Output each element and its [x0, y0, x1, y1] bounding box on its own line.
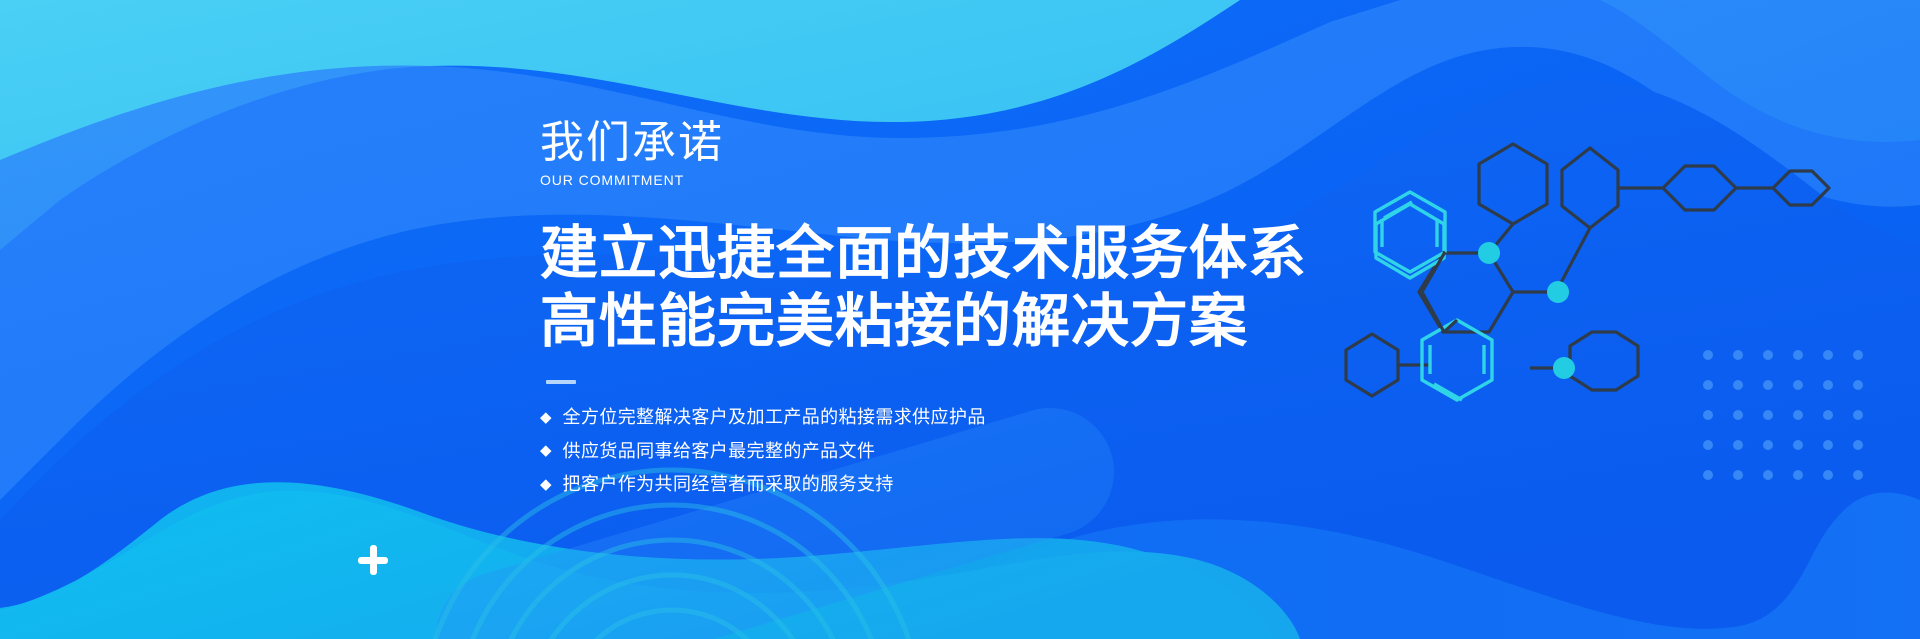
list-item-label: 把客户作为共同经营者而采取的服务支持 [563, 473, 894, 496]
banner-content: 我们承诺 OUR COMMITMENT 建立迅捷全面的技术服务体系 高性能完美粘… [540, 120, 1360, 512]
diamond-icon: ◆ [540, 443, 552, 458]
plus-icon [358, 545, 388, 575]
list-item: ◆ 全方位完整解决客户及加工产品的粘接需求供应护品 [540, 406, 1360, 429]
eyebrow-title-en: OUR COMMITMENT [540, 172, 1360, 189]
list-item: ◆ 把客户作为共同经营者而采取的服务支持 [540, 473, 1360, 496]
headline-line-1: 建立迅捷全面的技术服务体系 [540, 220, 1360, 288]
headline-line-2: 高性能完美粘接的解决方案 [540, 288, 1360, 356]
diamond-icon: ◆ [540, 477, 552, 492]
diamond-icon: ◆ [540, 410, 552, 425]
divider-dash [546, 380, 576, 384]
list-item-label: 供应货品同事给客户最完整的产品文件 [563, 440, 876, 463]
molecule-node [1478, 242, 1575, 379]
commitment-list: ◆ 全方位完整解决客户及加工产品的粘接需求供应护品 ◆ 供应货品同事给客户最完整… [540, 406, 1360, 496]
list-item-label: 全方位完整解决客户及加工产品的粘接需求供应护品 [563, 406, 986, 429]
eyebrow-title-cn: 我们承诺 [540, 120, 1360, 167]
commitment-banner: 我们承诺 OUR COMMITMENT 建立迅捷全面的技术服务体系 高性能完美粘… [0, 0, 1920, 639]
headline: 建立迅捷全面的技术服务体系 高性能完美粘接的解决方案 [540, 220, 1360, 356]
list-item: ◆ 供应货品同事给客户最完整的产品文件 [540, 440, 1360, 463]
